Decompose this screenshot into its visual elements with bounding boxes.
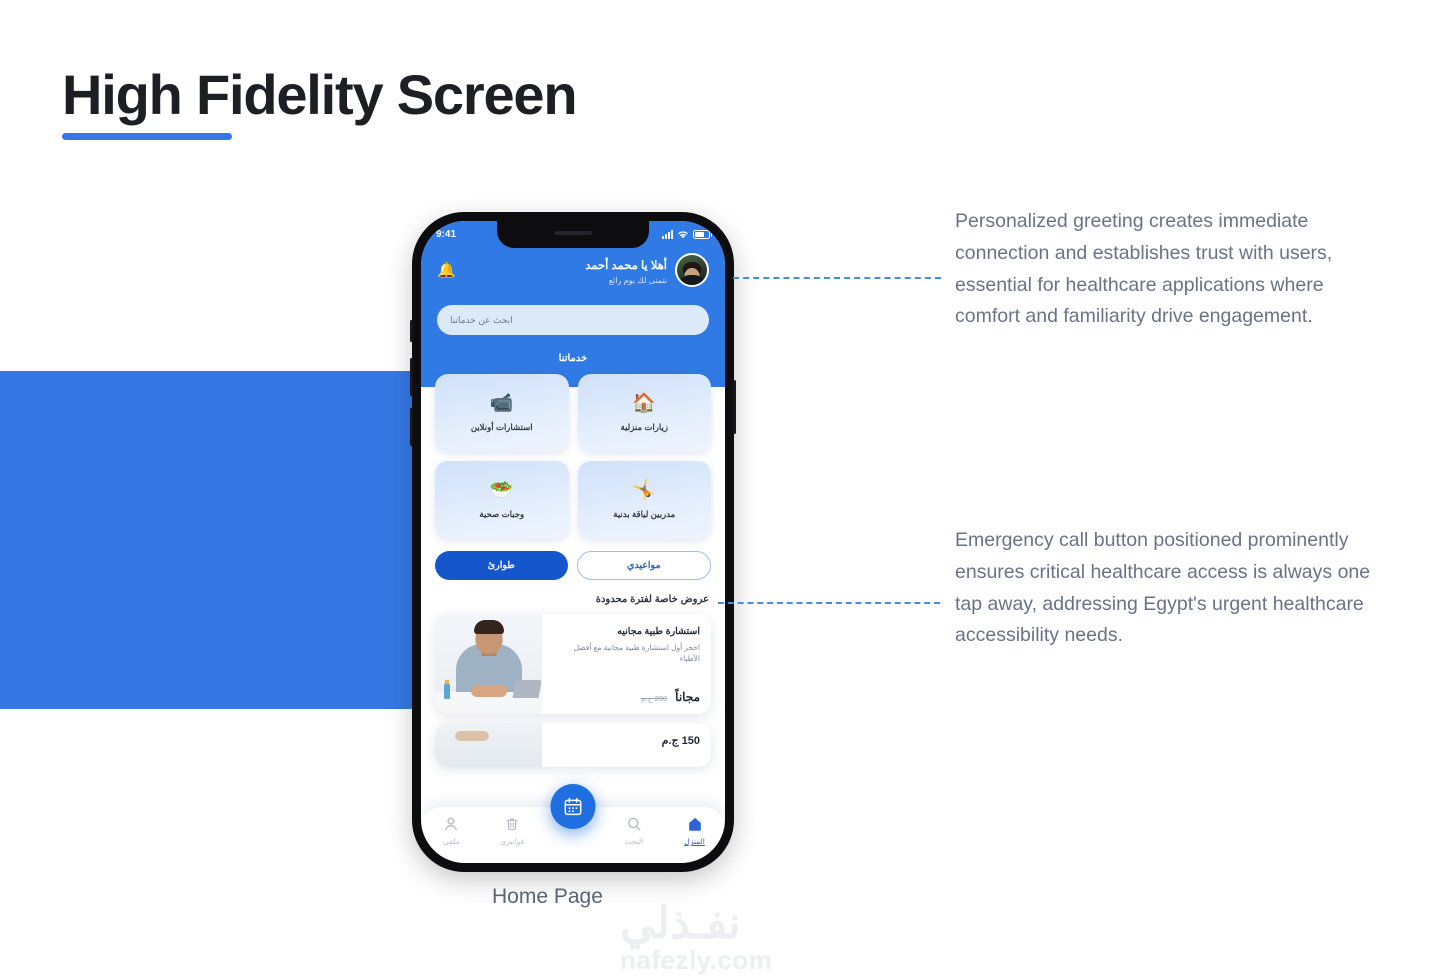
volume-down-button: [410, 408, 413, 446]
nav-label: فواتيري: [500, 837, 524, 846]
phone-caption: Home Page: [492, 885, 603, 909]
doctor-photo: [435, 614, 542, 714]
bell-icon[interactable]: 🔔: [437, 263, 456, 278]
home-visit-icon: 🏠: [632, 394, 656, 413]
fitness-trainer-icon: 🤸: [632, 481, 656, 500]
home-icon: [687, 816, 703, 832]
mute-switch: [410, 320, 413, 342]
service-label: وجبات صحية: [479, 509, 524, 520]
volume-up-button: [410, 358, 413, 396]
video-camera-icon: 📹: [490, 394, 514, 413]
watermark-latin: nafezly.com: [620, 945, 772, 976]
nav-label: البحث: [624, 837, 643, 846]
nav-label: المنزل: [684, 837, 705, 846]
phone-screen: 9:41 🔔 أهلا يا محمد: [421, 221, 725, 863]
person-icon: [443, 816, 459, 832]
service-card-home-visits[interactable]: 🏠 زيارات منزلية: [578, 374, 712, 452]
offer-price-secondary: 150 ج.م: [662, 735, 700, 747]
earpiece-speaker: [554, 231, 592, 235]
trash-icon: [504, 816, 520, 832]
emergency-button[interactable]: طوارئ: [435, 551, 568, 580]
services-grid: 📹 استشارات أونلاين 🏠 زيارات منزلية 🥗 وجب…: [435, 374, 711, 539]
offer-card-secondary[interactable]: 150 ج.م: [435, 723, 711, 767]
watermark-arabic: نفـذلي: [620, 898, 741, 949]
nav-item-search[interactable]: البحث: [608, 816, 660, 846]
greeting-title: أهلا يا محمد أحمد: [585, 260, 667, 272]
title-underline: [62, 133, 232, 140]
search-placeholder: ابحث عن خدماتنا: [450, 315, 513, 326]
service-label: زيارات منزلية: [621, 422, 668, 433]
nav-item-home[interactable]: المنزل: [669, 816, 721, 846]
service-card-fitness-trainers[interactable]: 🤸 مدربين لياقة بدنية: [578, 461, 712, 539]
nav-item-invoices[interactable]: فواتيري: [486, 816, 538, 846]
page-title: High Fidelity Screen: [62, 62, 576, 127]
annotation-emergency: Emergency call button positioned promine…: [955, 525, 1375, 652]
status-time: 9:41: [436, 229, 456, 240]
action-buttons-row: طوارئ مواعيدي: [421, 551, 725, 580]
offer-card[interactable]: استشارة طبية مجانيه احجز أول استشارة طبي…: [435, 614, 711, 714]
bottom-navigation: ملفي فواتيري البحث: [421, 807, 725, 863]
calendar-fab-button[interactable]: [551, 784, 596, 829]
offers-title: عروض خاصة لفترة محدودة: [421, 594, 725, 605]
signal-bars-icon: [662, 230, 673, 239]
offer-photo-2: [435, 723, 542, 767]
nav-label: ملفي: [443, 837, 460, 846]
service-label: مدربين لياقة بدنية: [613, 509, 675, 520]
service-card-healthy-meals[interactable]: 🥗 وجبات صحية: [435, 461, 569, 539]
phone-mockup: 9:41 🔔 أهلا يا محمد: [412, 212, 734, 872]
offer-description: احجز أول استشارة طبية مجانية مع أفضل الأ…: [553, 642, 700, 665]
search-input[interactable]: ابحث عن خدماتنا: [437, 305, 709, 335]
greeting-subtitle: نتمنى لك يوم رائع: [585, 276, 667, 285]
poster-canvas: High Fidelity Screen 9:41: [0, 0, 1440, 980]
offer-price-new: مجاناً: [675, 690, 700, 704]
offer-price-old: 200 ج.م: [641, 694, 667, 703]
power-button: [733, 380, 736, 434]
offer-heading: استشارة طبية مجانيه: [553, 626, 700, 637]
appointments-button[interactable]: مواعيدي: [577, 551, 712, 580]
services-title: خدماتنا: [435, 353, 711, 364]
wifi-icon: [677, 230, 689, 239]
nav-item-profile[interactable]: ملفي: [425, 816, 477, 846]
salad-bowl-icon: 🥗: [490, 481, 514, 500]
search-icon: [626, 816, 642, 832]
decorative-blue-block: [0, 371, 412, 709]
avatar[interactable]: [675, 253, 709, 287]
service-label: استشارات أونلاين: [471, 422, 533, 433]
annotation-greeting: Personalized greeting creates immediate …: [955, 206, 1375, 333]
services-section: خدماتنا 📹 استشارات أونلاين 🏠 زيارات منزل…: [421, 353, 725, 539]
battery-icon: [693, 230, 710, 239]
connector-line-greeting: [733, 277, 941, 279]
calendar-icon: [563, 796, 584, 817]
service-card-online-consultations[interactable]: 📹 استشارات أونلاين: [435, 374, 569, 452]
connector-line-emergency: [718, 602, 940, 604]
phone-notch: [497, 221, 649, 248]
